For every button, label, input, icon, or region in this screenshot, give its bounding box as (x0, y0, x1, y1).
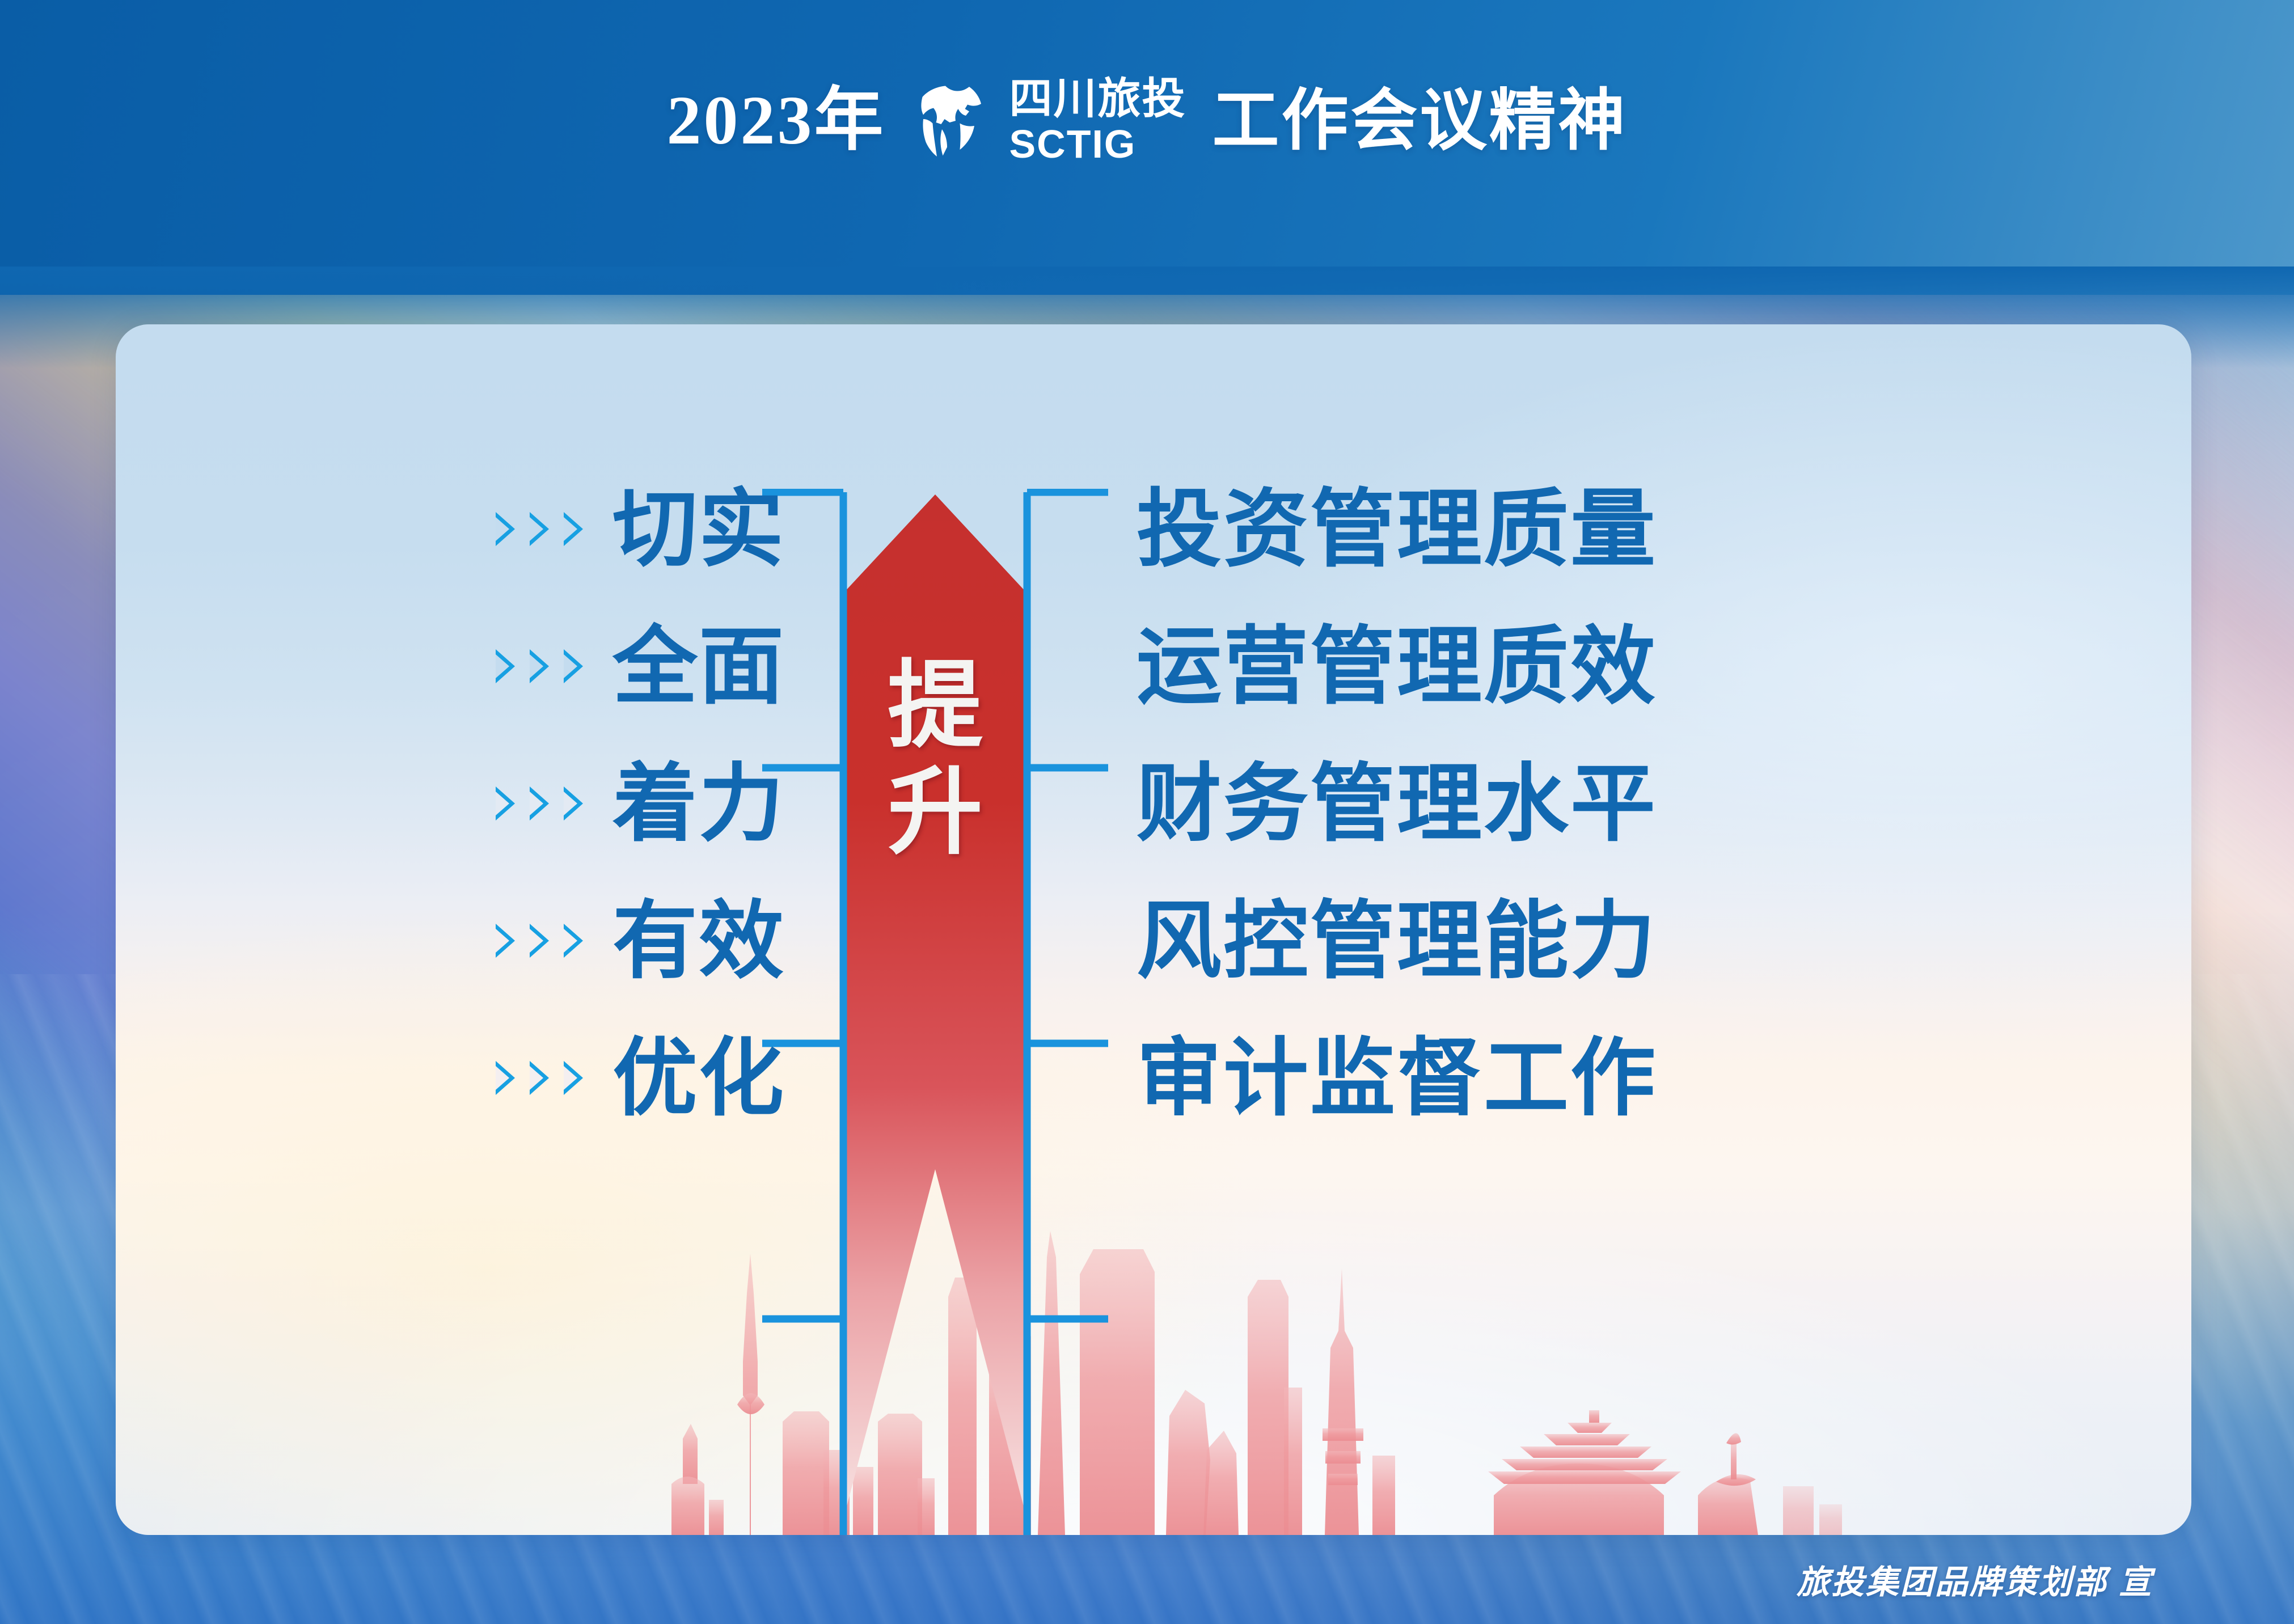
chevron-right-triple-icon (496, 649, 583, 683)
header-title: 工作会议精神 (1212, 87, 1627, 154)
phrase-label: 运营管理质效 (1137, 624, 1657, 709)
chevron-right-triple-icon (496, 1061, 583, 1095)
diagram-row: 财务管理水平 (1137, 735, 2135, 872)
phrase-label: 审计监督工作 (1137, 1035, 1657, 1120)
logo-wordmark: 四川旅投 SCTIG (1009, 78, 1186, 164)
poster-header: 2023年 四川旅投 SCTIG 工作会议精神 (0, 67, 2294, 175)
footer-credit: 旅投集团品牌策划部 宣 (1797, 1555, 2153, 1603)
arrow-label-line2: 升 (888, 760, 983, 866)
chevron-right-triple-icon (496, 786, 583, 821)
diagram-row: 风控管理能力 (1137, 872, 2135, 1009)
diagram-row: 优化 (184, 1009, 785, 1147)
keyword-column: 切实 全面 着力 有效 (184, 460, 785, 1147)
uplift-diagram: 提 升 (116, 324, 2191, 1535)
up-arrow-banner-icon (844, 494, 1026, 1515)
diagram-row: 切实 (184, 460, 785, 598)
company-logo: 四川旅投 SCTIG (911, 78, 1186, 164)
keyword-label: 优化 (612, 1035, 785, 1120)
keyword-label: 切实 (612, 487, 785, 572)
poster-footer: 旅投集团品牌策划部 宣 (0, 1534, 2294, 1624)
diagram-row: 全面 (184, 598, 785, 735)
diagram-row: 运营管理质效 (1137, 598, 2135, 735)
phrase-label: 风控管理能力 (1137, 898, 1657, 983)
logo-name-cn: 四川旅投 (1009, 78, 1186, 121)
keyword-label: 有效 (612, 898, 785, 983)
keyword-label: 着力 (612, 761, 785, 846)
keyword-label: 全面 (612, 624, 785, 709)
diagram-row: 着力 (184, 735, 785, 872)
diagram-row: 投资管理质量 (1137, 460, 2135, 598)
phrase-label: 投资管理质量 (1137, 487, 1657, 572)
chevron-right-triple-icon (496, 924, 583, 958)
chevron-right-triple-icon (496, 512, 583, 546)
right-connector-bracket (1023, 489, 1108, 1535)
logo-name-en: SCTIG (1009, 124, 1136, 164)
phrase-label: 财务管理水平 (1137, 761, 1657, 846)
arrow-label-line1: 提 (888, 653, 983, 760)
content-card: 提 升 (116, 324, 2191, 1535)
globe-panda-logo-icon (911, 78, 996, 163)
diagram-row: 有效 (184, 872, 785, 1009)
arrow-label: 提 升 (844, 653, 1026, 866)
diagram-row: 审计监督工作 (1137, 1009, 2135, 1147)
phrase-column: 投资管理质量 运营管理质效 财务管理水平 风控管理能力 审计监督工作 (1137, 460, 2135, 1147)
header-year: 2023年 (666, 86, 885, 155)
